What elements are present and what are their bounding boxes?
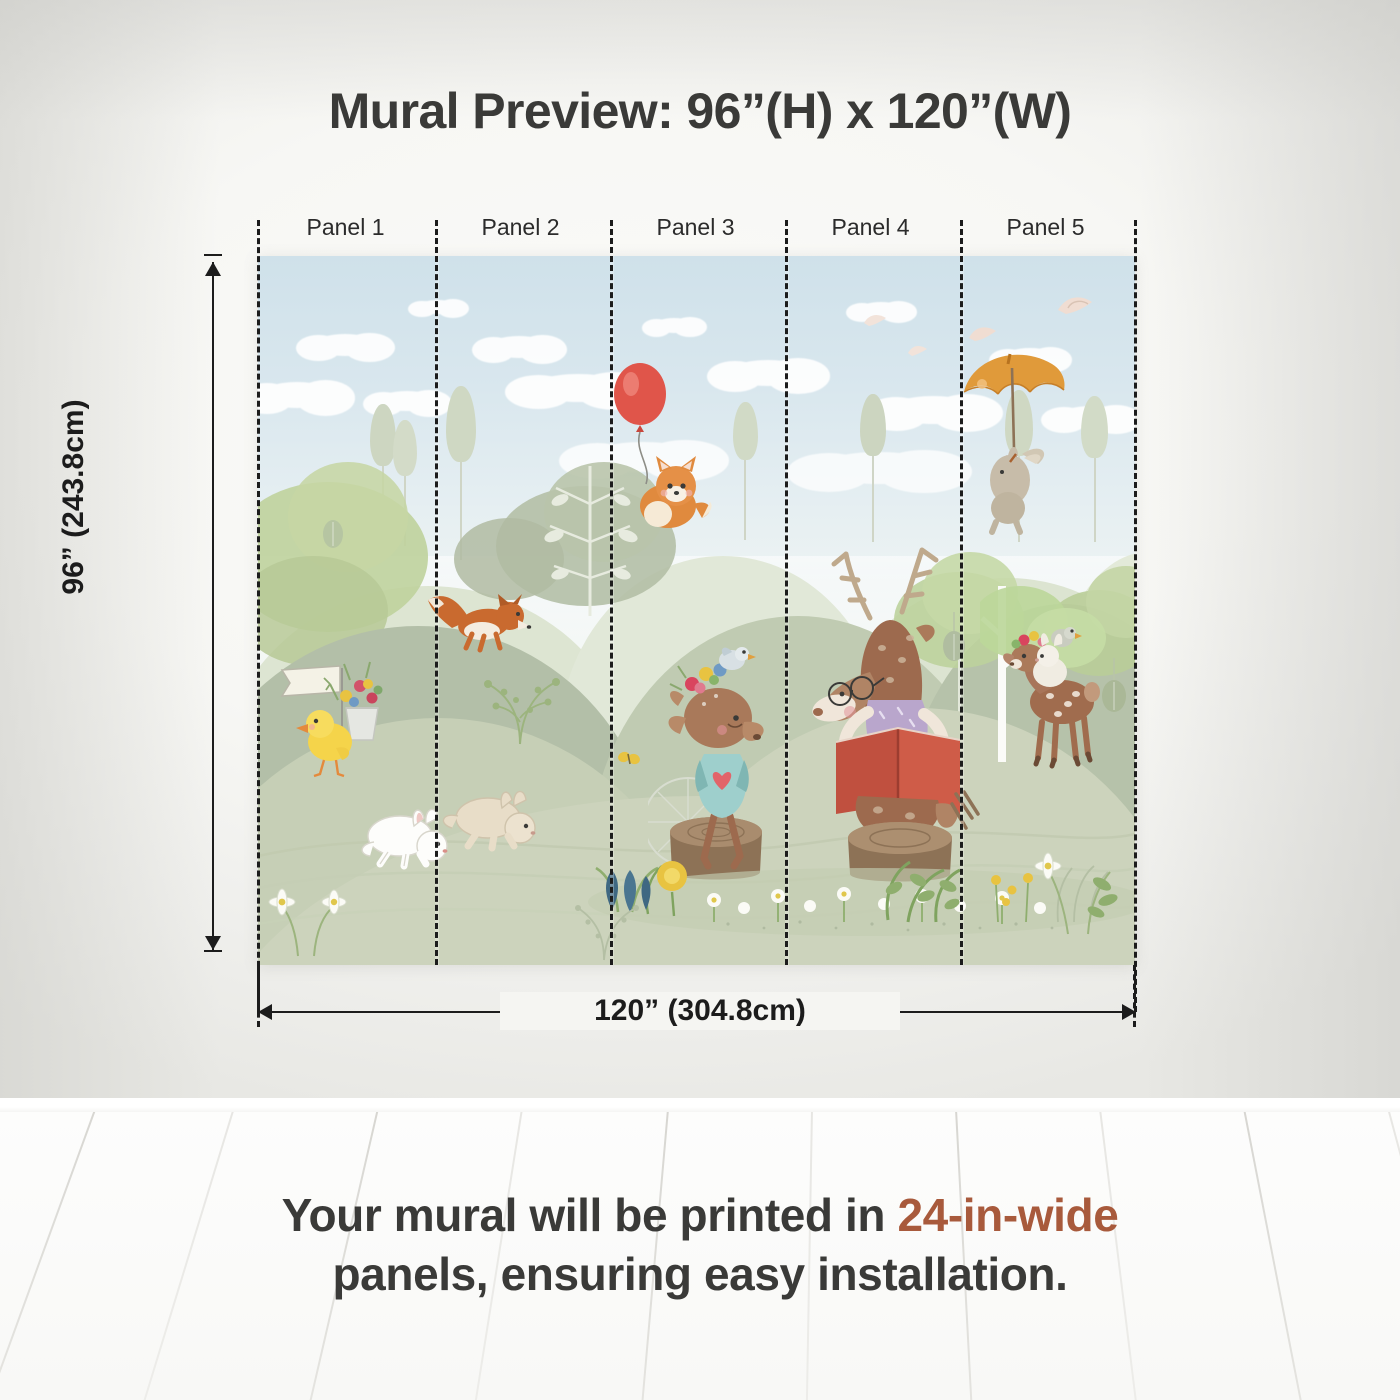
tree-foliage	[370, 404, 396, 466]
height-dimension-label: 96” (243.8cm)	[57, 347, 91, 647]
cloud	[818, 452, 938, 484]
wildflower-cluster	[268, 868, 348, 958]
panel-edge-right	[1134, 220, 1137, 1012]
mural-preview	[258, 256, 1135, 965]
panel-divider-1-2	[435, 220, 438, 965]
tree-foliage	[393, 420, 417, 476]
caption-accent-text: 24-in-wide	[897, 1189, 1118, 1241]
panel-label-5: Panel 5	[958, 214, 1133, 241]
duckling-with-flower-bucket	[274, 656, 424, 786]
page-title: Mural Preview: 96”(H) x 120”(W)	[0, 82, 1400, 140]
wall-shadow-left	[0, 0, 220, 1105]
wall-shadow-right	[1140, 0, 1400, 1105]
bunny-with-orange-umbrella	[958, 338, 1088, 538]
cloud	[260, 382, 334, 408]
panel-label-4: Panel 4	[783, 214, 958, 241]
panel-label-2: Panel 2	[433, 214, 608, 241]
panel-label-3: Panel 3	[608, 214, 783, 241]
panel-divider-3-4	[785, 220, 788, 965]
print-info-caption: Your mural will be printed in 24-in-wide…	[100, 1186, 1300, 1304]
caption-line1-prefix: Your mural will be printed in	[282, 1189, 898, 1241]
tan-bunny-running	[436, 786, 546, 856]
tree-foliage	[733, 402, 758, 460]
cloud	[488, 336, 550, 358]
wildflower-cluster	[1030, 826, 1120, 936]
panel-divider-4-5	[960, 220, 963, 965]
hanging-leaf	[934, 608, 974, 668]
panel-edge-left	[257, 220, 260, 1012]
flying-bird	[906, 342, 930, 360]
panel-label-1: Panel 1	[258, 214, 433, 241]
caption-line2: panels, ensuring easy installation.	[332, 1248, 1067, 1300]
butterfly	[616, 748, 642, 770]
width-dimension-label: 120” (304.8cm)	[500, 992, 900, 1030]
flying-bird	[862, 310, 890, 332]
flying-fox-with-balloon	[598, 356, 728, 536]
flying-bird	[1054, 290, 1098, 322]
sprig-decoration	[470, 666, 570, 746]
tree-trunk	[1094, 446, 1096, 542]
mural-artwork	[258, 256, 1135, 965]
tree-trunk	[744, 448, 746, 540]
hanging-leaf	[316, 504, 350, 554]
cloud	[313, 334, 377, 356]
tree-foliage	[860, 394, 886, 456]
flying-bird	[966, 322, 1000, 348]
cloud	[653, 318, 695, 333]
panel-divider-2-3	[610, 220, 613, 965]
tree-trunk	[872, 444, 874, 542]
cloud	[728, 360, 808, 386]
hanging-leaf	[1094, 654, 1134, 718]
sprig-decoration	[558, 892, 648, 962]
